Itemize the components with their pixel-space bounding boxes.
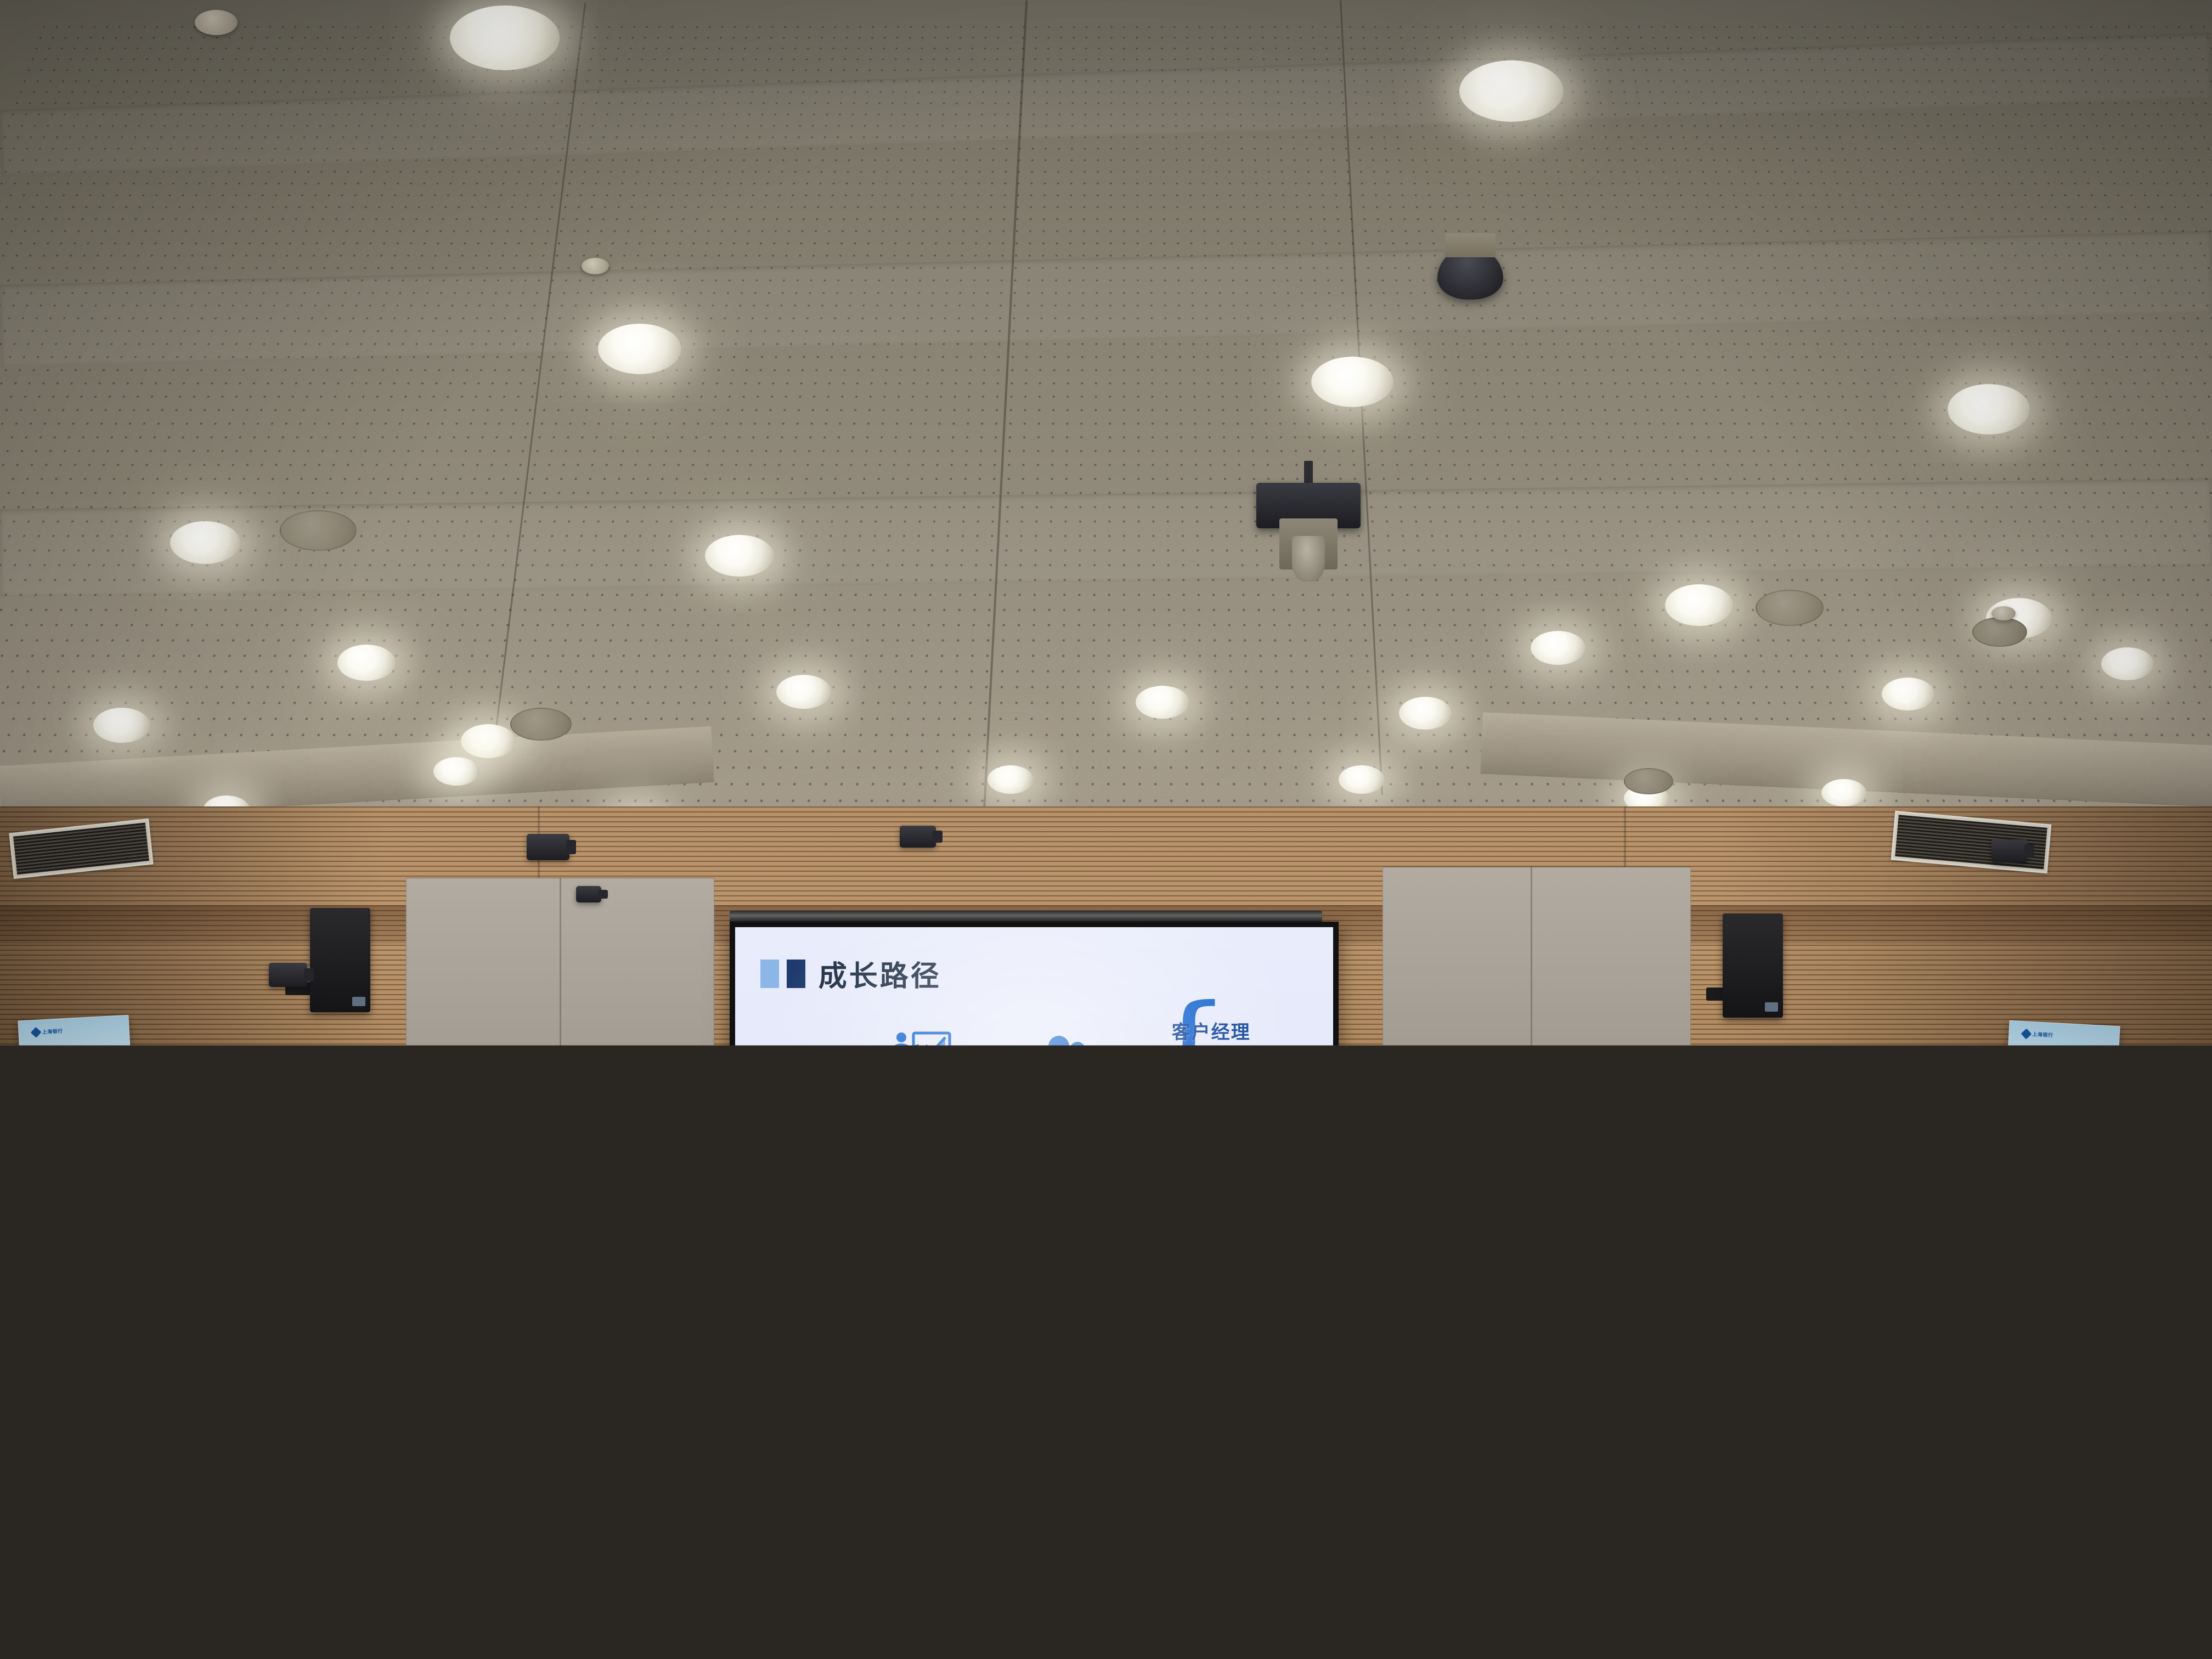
poster-headline: 乘势而上 聚力前行 — [2016, 1058, 2108, 1091]
tshirt-graphic: Human Made — [1643, 1503, 1830, 1659]
person-body — [1459, 1287, 1564, 1384]
person-body — [1339, 1309, 1421, 1386]
ceiling-light — [988, 765, 1034, 794]
audience-person — [1712, 1267, 1799, 1388]
ceiling-light — [776, 675, 831, 709]
person-head — [1828, 1284, 1864, 1324]
ceiling-air-diffuser — [280, 510, 357, 551]
laptop-screen — [977, 1613, 1083, 1658]
laptop-base — [2110, 1480, 2212, 1492]
left-branch-label: 管理序列 — [870, 1143, 953, 1172]
chair[interactable] — [1344, 1437, 1448, 1531]
person-body — [609, 1302, 713, 1427]
ceiling-light — [1665, 584, 1733, 626]
ceiling-air-diffuser — [510, 708, 572, 741]
wall-camera — [527, 834, 569, 860]
poster-headline-line2: 聚力前行 — [2016, 1074, 2108, 1092]
dome-camera — [1437, 247, 1503, 300]
audience-person-humanmade: Human Made — [1640, 1421, 1832, 1659]
role-item: 技术经理 — [1172, 1055, 1271, 1082]
poster-subtitle: 上海银行2025届校园招聘 — [2017, 1096, 2104, 1106]
person-head — [58, 1448, 129, 1531]
poster-logo: 上海银行 — [496, 1209, 527, 1216]
ceiling-light — [1136, 686, 1189, 719]
person-head — [960, 1492, 1026, 1569]
poster-wave-graphic — [25, 1133, 137, 1180]
poster-wave-graphic — [2002, 1138, 2114, 1186]
presenter-with-audience-icon — [890, 1031, 962, 1091]
audience-person — [861, 1278, 971, 1443]
person-head — [1736, 1267, 1775, 1311]
plastic-bag — [165, 1437, 225, 1481]
projector-lens — [1292, 536, 1325, 582]
person-head — [1490, 1245, 1533, 1294]
ice-cream-sundae-icon — [1722, 1585, 1751, 1633]
ceiling-air-diffuser — [1624, 768, 1673, 794]
ceiling-light — [93, 708, 150, 743]
chair[interactable] — [680, 1481, 801, 1569]
wall-camera — [900, 826, 936, 848]
ceiling-light — [1459, 60, 1564, 122]
poster-cta-pill — [2033, 1111, 2086, 1124]
paper-document — [1908, 1478, 2009, 1517]
poster-brand: 上海银行 — [42, 1027, 63, 1035]
ceiling-air-diffuser — [1972, 617, 2027, 647]
ceiling-light — [1821, 779, 1866, 806]
ceiling-light — [1948, 384, 2030, 435]
smoke-detector-icon — [582, 258, 609, 274]
whiteboard-eraser[interactable] — [1755, 1134, 1779, 1150]
slide-title: 成长路径 — [819, 953, 941, 994]
chair[interactable] — [1492, 1476, 1602, 1575]
person-head — [771, 1262, 814, 1310]
audience-person — [741, 1262, 845, 1426]
recruitment-poster-left: 上海银行 乘势而上 聚力前行 上海银行2025届校园招聘 — [18, 1015, 137, 1181]
audience-person — [1607, 1262, 1701, 1388]
ceiling-light — [433, 757, 479, 786]
poster-logo: 上海银行 — [32, 1027, 63, 1036]
brand-en: Bank of Shanghai — [1168, 1238, 1210, 1258]
role-list: 客户经理 技术经理 授信审批人 运营经理 — [1172, 1017, 1271, 1158]
person-body — [1805, 1320, 1887, 1401]
group-of-people-icon — [1040, 1034, 1097, 1087]
ceiling-light — [2101, 647, 2154, 680]
title-marker-dark — [787, 960, 805, 988]
person-head — [2113, 1278, 2155, 1325]
ceiling-light — [598, 324, 681, 374]
poster-cta-pill — [52, 1106, 105, 1118]
laptop[interactable] — [977, 1613, 1081, 1659]
person-body — [702, 1591, 944, 1659]
ceiling-air-diffuser — [1756, 590, 1824, 626]
audience-person-foreground — [0, 1448, 187, 1659]
bank-diamond-icon — [31, 1026, 42, 1037]
person-head — [527, 1245, 571, 1295]
smoke-detector-icon — [1991, 606, 2016, 620]
poster-brand: 上海银行 — [506, 1209, 527, 1216]
sundae-glass — [1727, 1601, 1748, 1633]
person-body — [1607, 1301, 1701, 1389]
person-head — [58, 1234, 101, 1283]
bank-diamond-icon — [2021, 1028, 2032, 1039]
audience-person — [1339, 1273, 1421, 1383]
chair[interactable] — [538, 1459, 658, 1558]
ceiling-light — [170, 521, 240, 564]
person-head — [148, 1267, 193, 1318]
podium-side-text: Business — [441, 1204, 471, 1325]
audience-person — [1459, 1245, 1564, 1383]
audience-person — [494, 1245, 603, 1421]
person-body — [494, 1288, 603, 1422]
wall-speaker — [1723, 913, 1783, 1018]
recruitment-poster-right: 上海银行 乘势而上 聚力前行 上海银行2025届校园招聘 — [2001, 1020, 2120, 1186]
audience-person — [609, 1262, 713, 1426]
chair-leg — [1372, 1525, 1381, 1580]
role-item: 授信审批人 — [1172, 1093, 1271, 1120]
wall-camera — [576, 886, 601, 902]
ceiling-light — [461, 724, 516, 758]
poster-logo: 上海银行 — [2022, 1030, 2053, 1039]
projection-screen: 成长路径 — [730, 922, 1339, 1278]
lecture-hall-photo: 上海银行 乘势而上 聚力前行 上海银行2025届校园招聘 上海银行 乘势而上 聚… — [0, 0, 2212, 1659]
ceiling-light — [705, 535, 774, 577]
wall-camera — [1991, 839, 2028, 862]
mobile-whiteboard[interactable] — [1640, 1081, 1828, 1252]
ceiling-light — [1882, 678, 1934, 710]
smoke-detector-icon — [195, 10, 238, 35]
tshirt-line2: Made — [1691, 1547, 1782, 1580]
audience-person — [1805, 1284, 1887, 1399]
slide-title-row: 成长路径 — [760, 953, 941, 994]
tshirt-line1: Human — [1677, 1517, 1796, 1551]
bank-diamond-icon — [494, 1207, 505, 1218]
backpack — [1948, 1300, 2019, 1361]
ceiling-light — [1399, 697, 1452, 730]
chair-leg — [1415, 1531, 1425, 1585]
ceiling-projector — [1256, 483, 1361, 582]
bank-mark-icon: ⇄ — [1217, 1239, 1235, 1257]
person-head — [360, 1251, 403, 1299]
person-body — [1712, 1306, 1799, 1390]
brand-en-line2: Shanghai — [1168, 1248, 1210, 1258]
ceiling-light — [1339, 765, 1385, 794]
poster-headline-line1: 乘势而上 — [2016, 1058, 2108, 1075]
person-body — [741, 1304, 845, 1429]
slide-brand-logo: Bank of Shanghai ⇄ 上海银行 — [1168, 1236, 1312, 1260]
brand-en-line1: Bank of — [1168, 1238, 1210, 1248]
person-body — [861, 1361, 971, 1448]
person-body — [0, 1520, 187, 1659]
role-item: 运营经理 — [1172, 1131, 1271, 1158]
person-head — [1634, 1262, 1674, 1307]
ceiling-light — [337, 645, 396, 681]
person-long-hair — [881, 1278, 952, 1372]
laptop[interactable] — [2118, 1393, 2212, 1492]
poster-headline: 乘势而上 聚力前行 — [28, 1048, 123, 1091]
screen-rail — [730, 911, 1322, 923]
ceiling-light — [450, 5, 560, 70]
poster-subtitle: 上海银行2025届校园招聘 — [33, 1091, 121, 1101]
ceiling-light — [1311, 357, 1393, 407]
ceiling — [0, 0, 2212, 900]
presentation-slide: 成长路径 — [735, 927, 1333, 1273]
laptop-screen — [2118, 1393, 2212, 1467]
role-item: 客户经理 — [1172, 1017, 1271, 1044]
wall-camera — [269, 963, 307, 987]
brand-cn: 上海银行 — [1242, 1236, 1312, 1260]
person-long-hair — [167, 1388, 304, 1596]
ceiling-light — [1531, 631, 1585, 665]
wall-speaker — [310, 908, 370, 1012]
title-marker-light — [760, 960, 779, 988]
poster-brand: 上海银行 — [2032, 1030, 2053, 1039]
right-branch-label: 专业序列 — [1064, 1150, 1148, 1178]
person-head — [1361, 1273, 1398, 1314]
